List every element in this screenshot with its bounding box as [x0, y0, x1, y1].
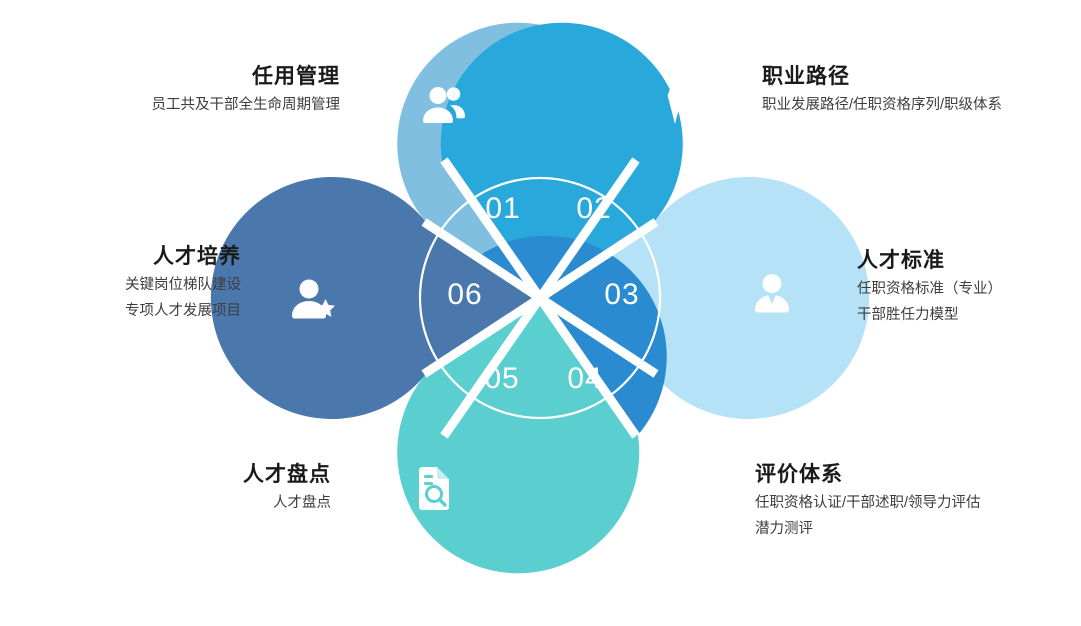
label-05: 人才盘点 人才盘点	[0, 460, 331, 516]
petal-number-06: 06	[447, 278, 482, 312]
label-05-sub-0: 人才盘点	[0, 490, 331, 516]
label-01-title: 任用管理	[0, 62, 340, 92]
petal-number-04: 04	[567, 362, 602, 396]
label-01-sub-0: 员工共及干部全生命周期管理	[0, 92, 340, 118]
label-06-title: 人才培养	[0, 242, 241, 272]
person-badge-icon	[746, 269, 798, 321]
label-02-title: 职业路径	[762, 62, 1002, 92]
edit-square-icon	[637, 465, 689, 517]
label-04-sub-1: 潜力测评	[755, 516, 981, 542]
petal-number-02: 02	[576, 192, 611, 226]
label-04-title: 评价体系	[755, 460, 981, 490]
label-06-sub-0: 关键岗位梯队建设	[0, 272, 241, 298]
label-02-sub-0: 职业发展路径/任职资格序列/职级体系	[762, 92, 1002, 118]
diagram-canvas: 01 02 03 04 05 06	[0, 0, 1081, 626]
label-06: 人才培养 关键岗位梯队建设 专项人才发展项目	[0, 242, 241, 324]
label-04-sub-0: 任职资格认证/干部述职/领导力评估	[755, 490, 981, 516]
label-03-sub-1: 干部胜任力模型	[857, 302, 1002, 328]
petal-number-01: 01	[485, 192, 520, 226]
label-04: 评价体系 任职资格认证/干部述职/领导力评估 潜力测评	[755, 460, 981, 542]
label-03: 人才标准 任职资格标准（专业） 干部胜任力模型	[857, 246, 1002, 328]
label-02: 职业路径 职业发展路径/任职资格序列/职级体系	[762, 62, 1002, 118]
person-star-icon	[288, 274, 340, 326]
document-search-icon	[409, 463, 461, 515]
label-05-title: 人才盘点	[0, 460, 331, 490]
users-icon	[417, 78, 469, 130]
petal-number-03: 03	[604, 278, 639, 312]
label-03-title: 人才标准	[857, 246, 1002, 276]
label-01: 任用管理 员工共及干部全生命周期管理	[0, 62, 340, 118]
label-03-sub-0: 任职资格标准（专业）	[857, 276, 1002, 302]
petal-number-05: 05	[484, 362, 519, 396]
label-06-sub-1: 专项人才发展项目	[0, 298, 241, 324]
necktie-icon	[649, 75, 701, 127]
